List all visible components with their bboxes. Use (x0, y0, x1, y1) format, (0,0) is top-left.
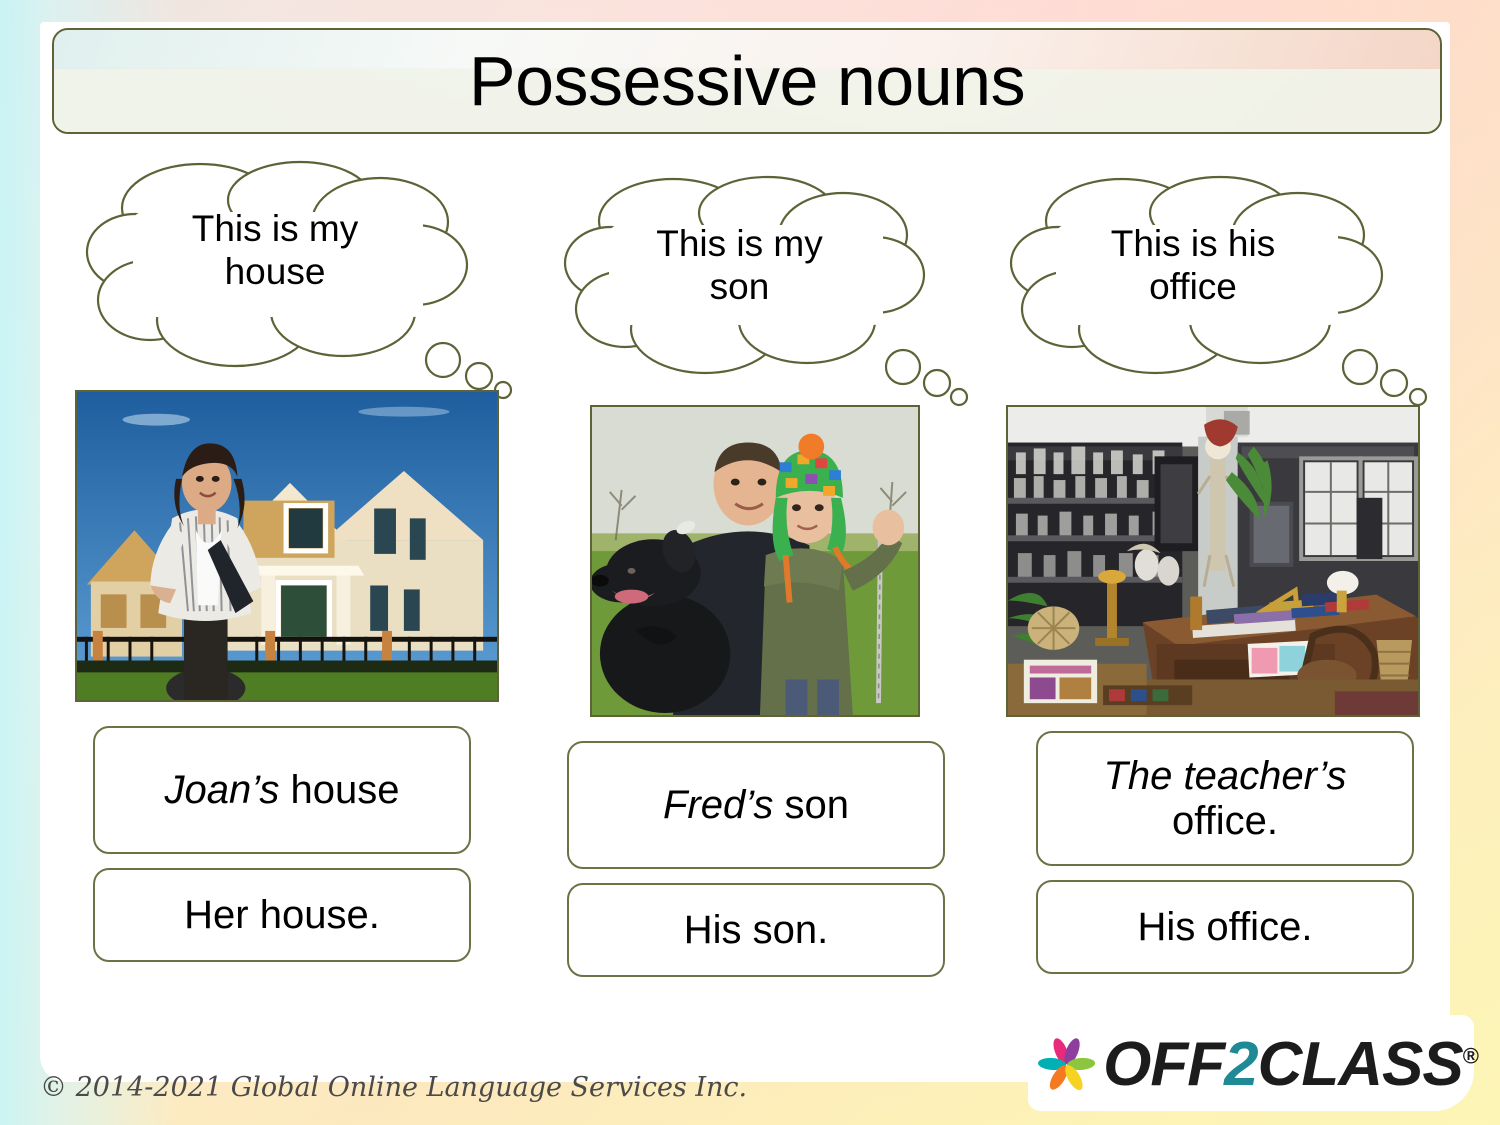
off2class-wordmark: OFF2CLASS® (1103, 1034, 1478, 1096)
answer-pronoun-house: Her house. (93, 868, 471, 962)
bubble-line-2: house (225, 251, 326, 292)
registered-trademark-icon: ® (1463, 1043, 1478, 1068)
son-photo-graphic (592, 407, 918, 715)
copyright-notice: © 2014-2021 Global Online Language Servi… (40, 1072, 747, 1103)
answer-possessive-office: The teacher’s office. (1036, 731, 1414, 866)
example-column-son: This is my son (555, 175, 955, 977)
example-column-office: This is his office (1000, 175, 1430, 974)
thought-bubble-son: This is my son (555, 175, 955, 405)
possessive-word: Fred’s (663, 783, 773, 827)
thought-bubble-text: This is my son (597, 223, 882, 308)
thought-bubble-text: This is my house (130, 208, 420, 293)
possessive-word: The teacher’s (1103, 754, 1346, 798)
bubble-line-2: son (710, 266, 770, 307)
office-photo-graphic (1008, 407, 1418, 715)
thought-bubble-text: This is his office (1048, 223, 1338, 308)
off2class-flower-icon (1038, 1022, 1095, 1108)
example-column-house: This is my house (75, 160, 505, 962)
answer-possessive-house: Joan’s house (93, 726, 471, 854)
logo-word-off: OFF (1103, 1030, 1224, 1099)
logo-word-two: 2 (1224, 1030, 1257, 1099)
possessive-rest: son (773, 783, 849, 827)
slide-title-bar: Possessive nouns (52, 28, 1442, 134)
answer-possessive-son: Fred’s son (567, 741, 945, 869)
vintage-office-photo (1006, 405, 1420, 717)
bubble-line-2: office (1149, 266, 1237, 307)
house-photo-graphic (77, 392, 497, 700)
answer-pronoun-son: His son. (567, 883, 945, 977)
logo-word-class: CLASS (1258, 1030, 1463, 1099)
bubble-line-1: This is my (192, 208, 359, 249)
possessive-word: Joan’s (164, 768, 279, 812)
thought-bubble-house: This is my house (75, 160, 505, 390)
bubble-line-1: This is my (656, 223, 823, 264)
off2class-logo[interactable]: OFF2CLASS® (1018, 1013, 1478, 1117)
possessive-rest: office. (1172, 799, 1278, 843)
page-title: Possessive nouns (469, 46, 1025, 116)
possessive-rest: house (279, 768, 399, 812)
woman-in-front-of-house-photo (75, 390, 499, 702)
thought-bubble-office: This is his office (1000, 175, 1430, 405)
man-with-son-and-dog-photo (590, 405, 920, 717)
answer-pronoun-office: His office. (1036, 880, 1414, 974)
bubble-line-1: This is his (1111, 223, 1275, 264)
